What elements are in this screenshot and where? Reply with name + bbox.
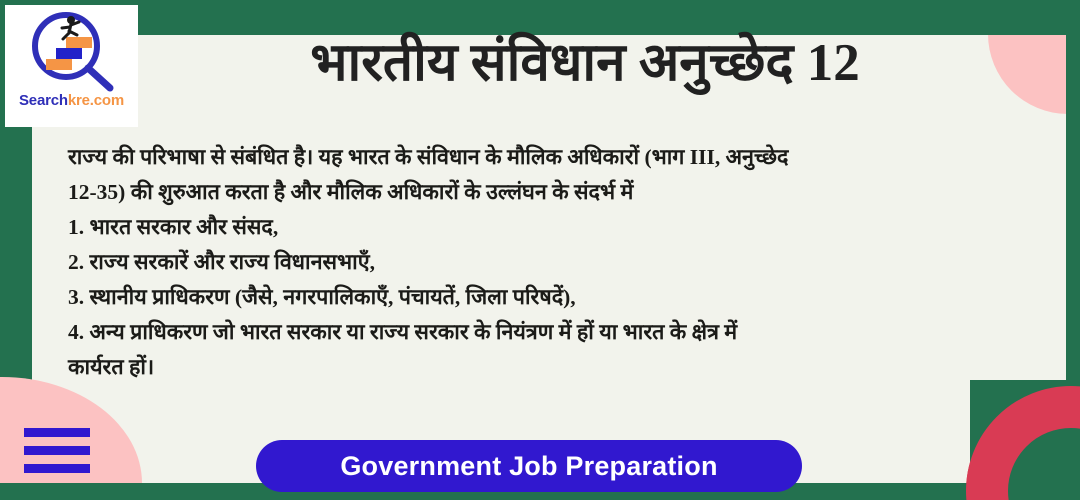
body-list-item-2: 2. राज्य सरकारें और राज्य विधानसभाएँ, (68, 245, 1028, 280)
menu-bar-line-1 (24, 428, 90, 437)
body-list-item-3: 3. स्थानीय प्राधिकरण (जैसे, नगरपालिकाएँ,… (68, 280, 1028, 315)
body-list-item-1: 1. भारत सरकार और संसद, (68, 210, 1028, 245)
body-list-item-4-cont: कार्यरत हों। (68, 350, 1028, 385)
menu-bar-line-2 (24, 446, 90, 455)
brand-wordmark: Searchkre.com (19, 92, 124, 109)
menu-bar-line-3 (24, 464, 90, 473)
menu-bars-decoration (24, 428, 90, 473)
magnifying-glass-icon (24, 10, 120, 94)
page-title: भारतीय संविधान अनुच्छेद 12 (155, 32, 1015, 95)
brand-logo: Searchkre.com (5, 5, 138, 127)
article-body: राज्य की परिभाषा से संबंधित है। यह भारत … (68, 140, 1028, 385)
brand-wordmark-part2: kre.com (68, 92, 124, 109)
body-line-intro-1: राज्य की परिभाषा से संबंधित है। यह भारत … (68, 140, 1028, 175)
brand-wordmark-part1: Search (19, 92, 68, 109)
poster-canvas: Searchkre.com भारतीय संविधान अनुच्छेद 12… (0, 0, 1080, 500)
government-job-preparation-button[interactable]: Government Job Preparation (256, 440, 802, 492)
body-line-intro-2: 12-35) की शुरुआत करता है और मौलिक अधिकार… (68, 175, 1028, 210)
frame-border-top (0, 0, 1080, 35)
body-list-item-4: 4. अन्य प्राधिकरण जो भारत सरकार या राज्य… (68, 315, 1028, 350)
